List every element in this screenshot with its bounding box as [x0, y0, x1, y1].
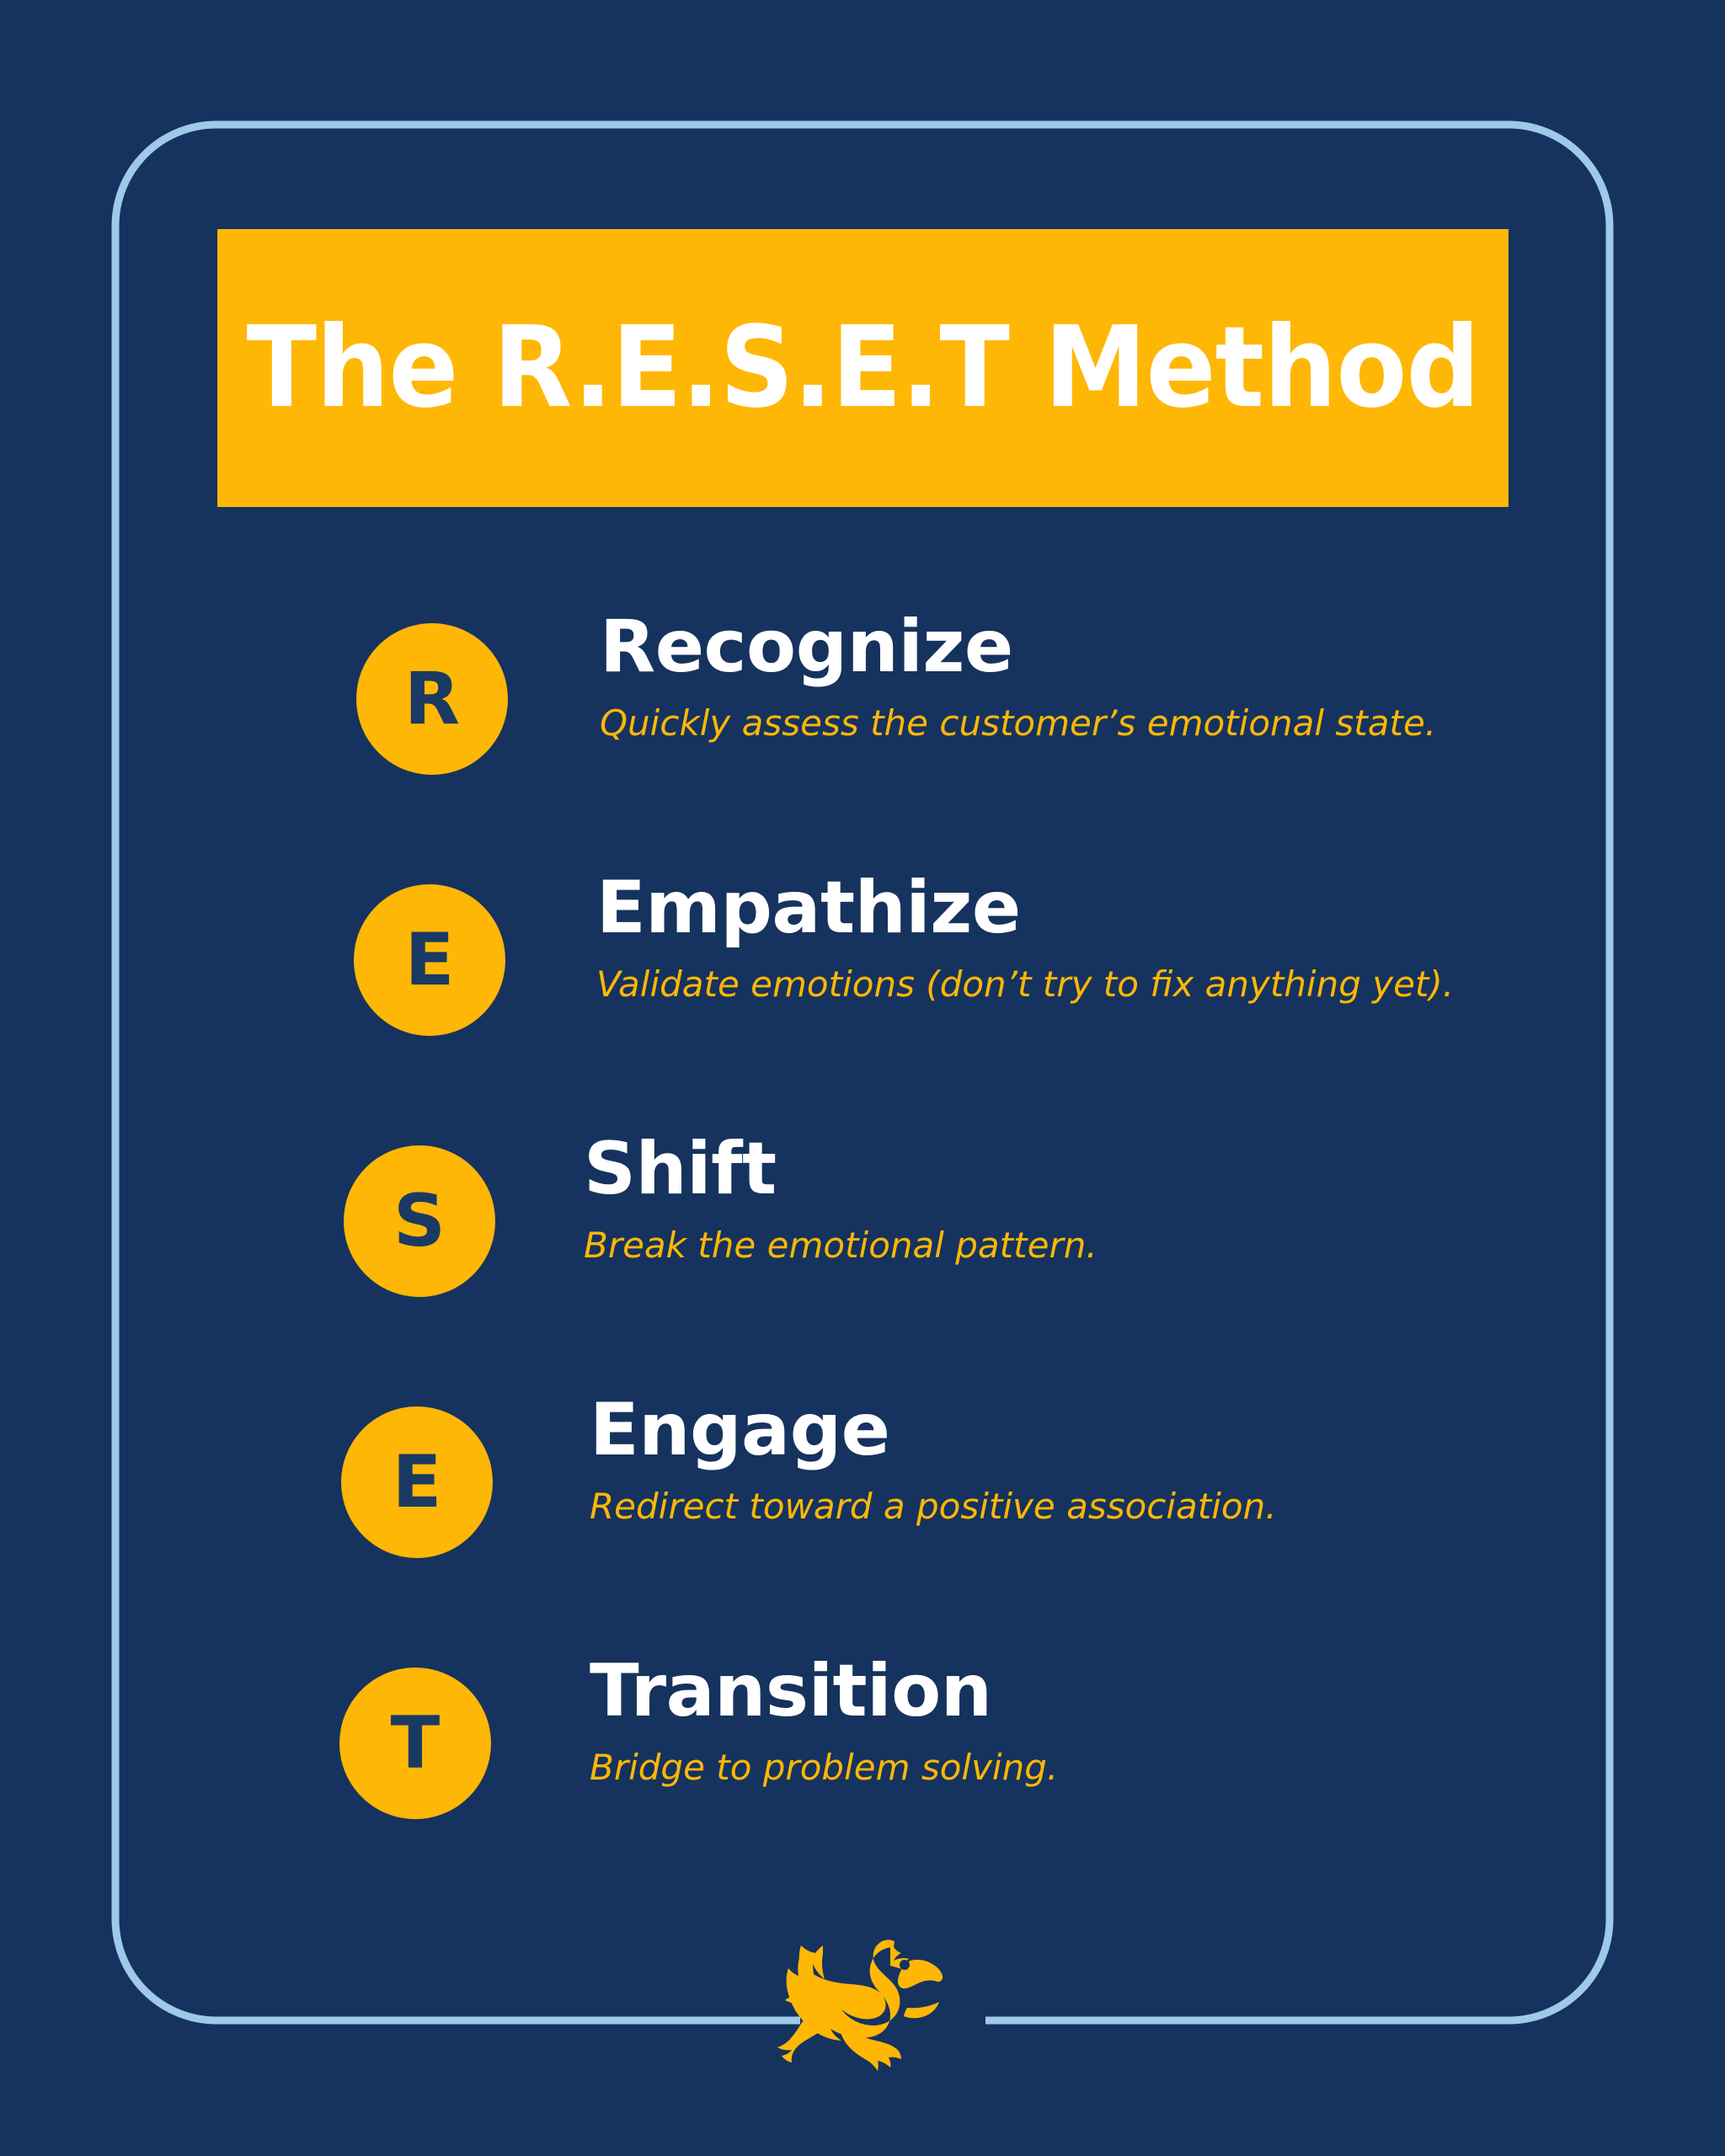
badge-letter: S — [393, 1185, 446, 1257]
title-banner: The R.E.S.E.T Method — [217, 229, 1509, 507]
step-description: Break the emotional pattern. — [584, 1225, 1097, 1267]
step-body: Engage Redirect toward a positive associ… — [590, 1390, 1277, 1529]
step-body: Empathize Validate emotions (don’t try t… — [596, 867, 1454, 1006]
step-badge-e2: E — [341, 1406, 493, 1558]
duck-logo-icon — [762, 1930, 964, 2099]
badge-letter: R — [404, 663, 460, 735]
step-description: Quickly assess the customer’s emotional … — [600, 702, 1436, 744]
step-badge-t: T — [339, 1668, 491, 1819]
step-body: Shift Break the emotional pattern. — [584, 1129, 1097, 1267]
step-body: Transition Bridge to problem solving. — [590, 1651, 1058, 1790]
step-badge-s: S — [344, 1145, 495, 1297]
step-title: Transition — [590, 1651, 1058, 1732]
badge-letter: E — [405, 924, 455, 996]
step-badge-e1: E — [354, 884, 505, 1036]
badge-letter: E — [393, 1446, 442, 1518]
step-description: Bridge to problem solving. — [590, 1747, 1058, 1789]
step-title: Recognize — [600, 606, 1436, 687]
badge-letter: T — [391, 1707, 441, 1780]
step-title: Empathize — [596, 867, 1454, 948]
step-title: Shift — [584, 1129, 1097, 1209]
step-title: Engage — [590, 1390, 1277, 1470]
list-item: R Recognize Quickly assess the customer’… — [0, 590, 1725, 851]
step-description: Validate emotions (don’t try to fix anyt… — [596, 963, 1454, 1006]
steps-list: R Recognize Quickly assess the customer’… — [0, 590, 1725, 1895]
list-item: E Engage Redirect toward a positive asso… — [0, 1373, 1725, 1634]
list-item: E Empathize Validate emotions (don’t try… — [0, 851, 1725, 1112]
step-badge-r: R — [356, 623, 508, 775]
step-description: Redirect toward a positive association. — [590, 1486, 1277, 1528]
page-title: The R.E.S.E.T Method — [247, 312, 1480, 424]
list-item: T Transition Bridge to problem solving. — [0, 1634, 1725, 1895]
list-item: S Shift Break the emotional pattern. — [0, 1112, 1725, 1373]
step-body: Recognize Quickly assess the customer’s … — [600, 606, 1436, 745]
poster-canvas: The R.E.S.E.T Method R Recognize Quickly… — [0, 0, 1725, 2156]
